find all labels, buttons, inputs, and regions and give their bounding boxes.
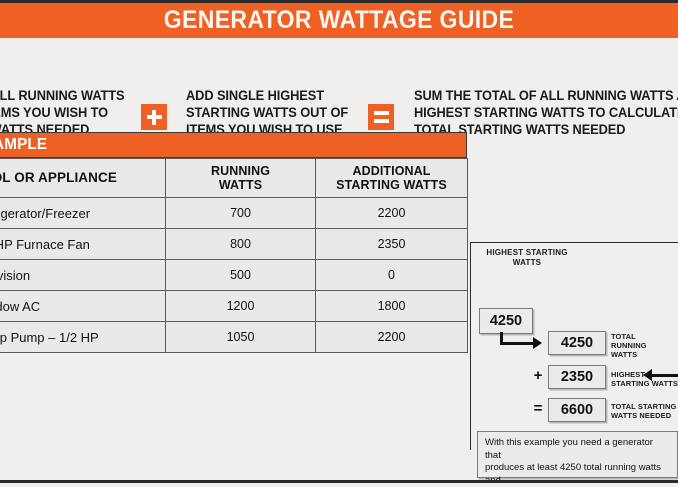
total-running-watts-label: TOTAL RUNNING WATTS [611, 332, 675, 359]
step-3-line-2: HIGHEST STARTING WATTS TO CALCULATE [414, 104, 678, 121]
example-table-section: EXAMPLE TOOL OR APPLIANCE RUNNING WATTS … [0, 132, 468, 353]
connector-arrow-horizontal [500, 342, 535, 345]
equals-sign: = [531, 400, 545, 417]
step-add-starting-watts: ADD SINGLE HIGHEST STARTING WATTS OUT OF… [186, 87, 357, 138]
equals-icon-top-bar [374, 111, 389, 115]
cell-running-watts: 800 [166, 229, 316, 260]
column-header-running-line-2: WATTS [166, 178, 315, 192]
total-running-watts-label-line-2: RUNNING [611, 341, 675, 350]
cell-appliance-name: 1/2 HP Furnace Fan [0, 229, 166, 260]
column-header-running-line-1: RUNNING [166, 164, 315, 178]
table-row: Window AC 1200 1800 [0, 291, 468, 322]
plus-sign: + [531, 367, 545, 384]
step-2-line-1: ADD SINGLE HIGHEST [186, 87, 348, 104]
cell-appliance-name: Television [0, 260, 166, 291]
highest-starting-watts-caption-line-1: HIGHEST STARTING [481, 248, 573, 258]
column-header-starting-watts: ADDITIONAL STARTING WATTS [316, 159, 468, 198]
cell-appliance-name: Window AC [0, 291, 166, 322]
incoming-arrow-horizontal [650, 374, 678, 377]
step-2-line-2: STARTING WATTS OUT OF [186, 104, 348, 121]
column-header-starting-line-2: STARTING WATTS [316, 178, 467, 192]
column-header-starting-line-1: ADDITIONAL [316, 164, 467, 178]
page-title: GENERATOR WATTAGE GUIDE [27, 3, 651, 38]
cell-running-watts: 1200 [166, 291, 316, 322]
source-running-watts-box: 4250 [479, 308, 533, 334]
cell-starting-watts: 0 [316, 260, 468, 291]
cell-starting-watts: 2200 [316, 322, 468, 353]
step-1-line-2: OF ITEMS YOU WISH TO [0, 104, 124, 121]
bottom-fill [0, 483, 678, 487]
cell-starting-watts: 1800 [316, 291, 468, 322]
step-1-line-1: ADD ALL RUNNING WATTS [0, 87, 124, 104]
connector-arrow-head-icon [533, 337, 542, 349]
total-running-watts-label-line-1: TOTAL [611, 332, 675, 341]
equals-icon-bottom-bar [374, 119, 389, 123]
table-row: Sump Pump – 1/2 HP 1050 2200 [0, 322, 468, 353]
column-header-appliance: TOOL OR APPLIANCE [0, 159, 166, 198]
total-starting-watts-label-line-2: WATTS NEEDED [611, 411, 678, 420]
equals-icon [368, 104, 394, 130]
example-note-box: With this example you need a generator t… [477, 431, 678, 478]
total-starting-watts-box: 6600 [548, 398, 606, 422]
plus-icon [141, 104, 167, 130]
page-header-bar: GENERATOR WATTAGE GUIDE [0, 3, 678, 38]
highest-starting-watts-caption: HIGHEST STARTING WATTS [481, 248, 573, 268]
steps-row: ADD ALL RUNNING WATTS OF ITEMS YOU WISH … [0, 38, 678, 122]
highest-starting-watts-caption-line-2: WATTS [481, 258, 573, 268]
table-row: Television 500 0 [0, 260, 468, 291]
table-header-row: TOOL OR APPLIANCE RUNNING WATTS ADDITION… [0, 159, 468, 198]
total-running-watts-label-line-3: WATTS [611, 350, 675, 359]
cell-appliance-name: Sump Pump – 1/2 HP [0, 322, 166, 353]
wattage-table: TOOL OR APPLIANCE RUNNING WATTS ADDITION… [0, 158, 468, 353]
table-row: Refrigerator/Freezer 700 2200 [0, 198, 468, 229]
total-starting-watts-label-line-1: TOTAL STARTING [611, 402, 678, 411]
step-3-line-1: SUM THE TOTAL OF ALL RUNNING WATTS AND [414, 87, 678, 104]
total-starting-watts-label: TOTAL STARTING WATTS NEEDED [611, 402, 678, 420]
plus-icon-vertical-bar [152, 110, 156, 125]
cell-running-watts: 1050 [166, 322, 316, 353]
table-row: 1/2 HP Furnace Fan 800 2350 [0, 229, 468, 260]
step-sum-total: SUM THE TOTAL OF ALL RUNNING WATTS AND H… [414, 87, 678, 138]
cell-starting-watts: 2200 [316, 198, 468, 229]
incoming-arrow-head-icon [643, 369, 652, 381]
generator-wattage-guide-page: GENERATOR WATTAGE GUIDE ADD ALL RUNNING … [0, 0, 678, 487]
total-running-watts-box: 4250 [548, 331, 606, 355]
cell-running-watts: 700 [166, 198, 316, 229]
step-add-running-watts: ADD ALL RUNNING WATTS OF ITEMS YOU WISH … [0, 87, 133, 138]
example-banner: EXAMPLE [0, 132, 467, 158]
example-note-line-1: With this example you need a generator t… [485, 437, 670, 462]
cell-starting-watts: 2350 [316, 229, 468, 260]
cell-running-watts: 500 [166, 260, 316, 291]
example-banner-label: EXAMPLE [0, 136, 47, 154]
highest-starting-watts-box: 2350 [548, 365, 606, 389]
column-header-running-watts: RUNNING WATTS [166, 159, 316, 198]
cell-appliance-name: Refrigerator/Freezer [0, 198, 166, 229]
